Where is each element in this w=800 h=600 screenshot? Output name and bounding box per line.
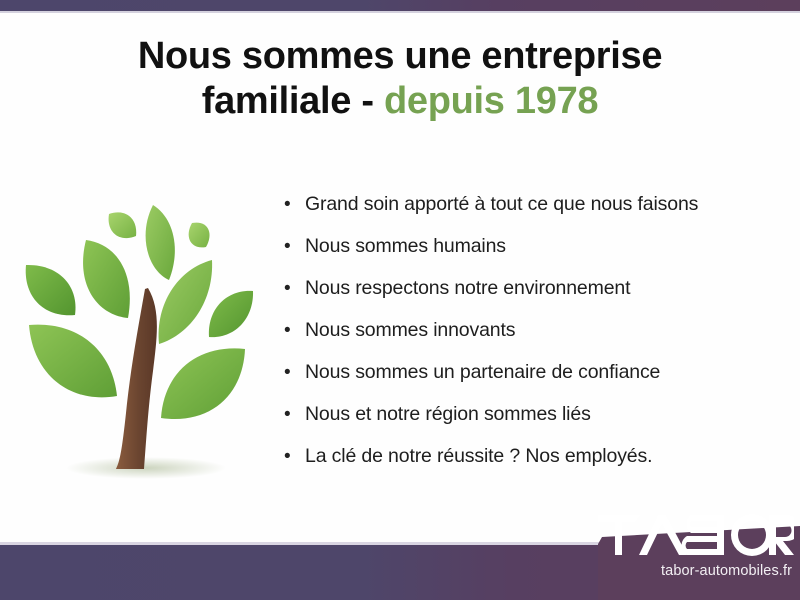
bullet-marker-icon: •: [284, 363, 305, 382]
brand-logo: tabor-automobiles.fr: [540, 507, 800, 600]
list-item: • Grand soin apporté à tout ce que nous …: [284, 193, 784, 235]
list-item: • Nous respectons notre environnement: [284, 277, 784, 319]
bullet-marker-icon: •: [284, 405, 305, 424]
tabor-wordmark: [598, 513, 794, 562]
leaf-3: [189, 223, 210, 248]
bullet-text: La clé de notre réussite ? Nos employés.: [305, 445, 652, 468]
brand-tagline: tabor-automobiles.fr: [661, 563, 792, 579]
list-item: • Nous sommes innovants: [284, 319, 784, 361]
bullet-text: Nous sommes innovants: [305, 319, 515, 342]
bullet-marker-icon: •: [284, 447, 305, 466]
top-accent-hairline: [0, 11, 800, 13]
title-accent-since: depuis 1978: [384, 80, 598, 122]
list-item: • Nous et notre région sommes liés: [284, 403, 784, 445]
bullet-text: Nous respectons notre environnement: [305, 277, 630, 300]
bullet-text: Grand soin apporté à tout ce que nous fa…: [305, 193, 698, 216]
leaf-2: [146, 205, 175, 280]
title-line-1: Nous sommes une entreprise: [0, 34, 800, 79]
top-accent-bar: [0, 0, 800, 11]
leaf-8: [29, 325, 117, 398]
bullet-text: Nous sommes humains: [305, 235, 506, 258]
tabor-wordmark-svg: [598, 513, 794, 557]
tree-illustration: [14, 182, 270, 482]
leaf-4: [83, 240, 130, 318]
list-item: • Nous sommes un partenaire de confiance: [284, 361, 784, 403]
bullet-marker-icon: •: [284, 321, 305, 340]
list-item: • Nous sommes humains: [284, 235, 784, 277]
list-item: • La clé de notre réussite ? Nos employé…: [284, 445, 784, 487]
leaf-9: [161, 348, 245, 419]
bullet-marker-icon: •: [284, 195, 305, 214]
tree-svg: [14, 182, 270, 482]
leaf-1: [109, 212, 137, 238]
bullet-list: • Grand soin apporté à tout ce que nous …: [284, 193, 784, 487]
bullet-text: Nous et notre région sommes liés: [305, 403, 591, 426]
bullet-text: Nous sommes un partenaire de confiance: [305, 361, 660, 384]
slide-canvas: Nous sommes une entreprise familiale - d…: [0, 0, 800, 600]
title-line-2-main: familiale -: [202, 80, 384, 122]
tree-ground-shadow: [66, 457, 226, 479]
title-line-2: familiale - depuis 1978: [0, 79, 800, 124]
leaf-5: [26, 265, 76, 315]
bullet-marker-icon: •: [284, 237, 305, 256]
page-title: Nous sommes une entreprise familiale - d…: [0, 34, 800, 124]
bullet-marker-icon: •: [284, 279, 305, 298]
leaf-7: [209, 291, 253, 337]
